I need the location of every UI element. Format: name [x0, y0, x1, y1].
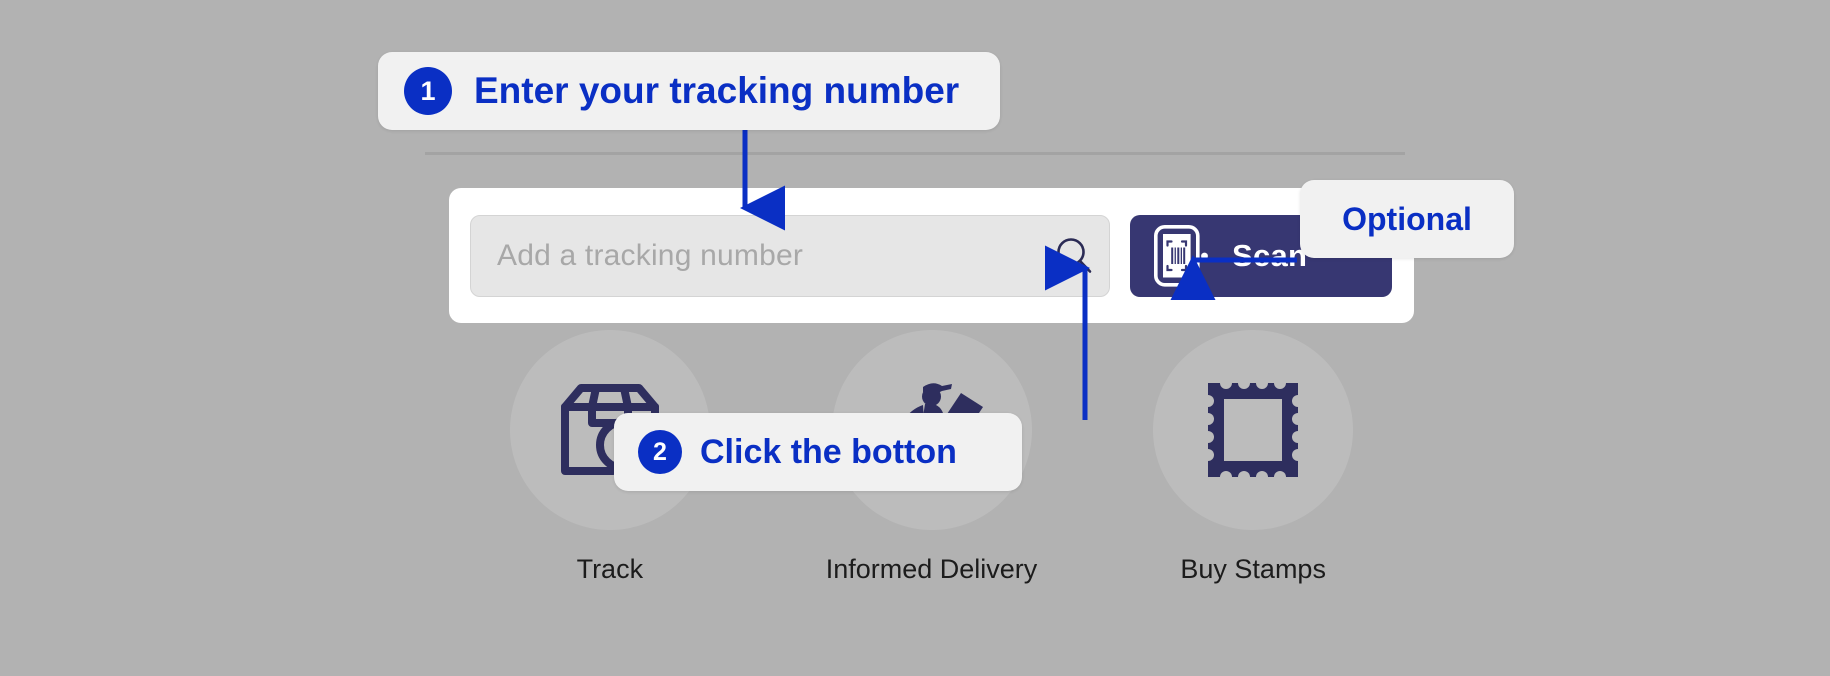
section-divider	[425, 152, 1405, 155]
search-placeholder: Add a tracking number	[497, 239, 1053, 273]
callout-step-1-text: Enter your tracking number	[474, 70, 959, 112]
callout-step-2[interactable]: 2 Click the botton	[614, 413, 1022, 491]
quick-action-label: Track	[577, 554, 644, 585]
callout-step-1[interactable]: 1 Enter your tracking number	[378, 52, 1000, 130]
quick-action-label: Buy Stamps	[1180, 554, 1326, 585]
callout-optional[interactable]: Optional	[1300, 180, 1514, 258]
quick-action-label: Informed Delivery	[826, 554, 1038, 585]
postage-stamp-icon	[1194, 371, 1312, 489]
search-input[interactable]: Add a tracking number	[470, 215, 1110, 297]
quick-action-buy-stamps[interactable]: Buy Stamps	[1092, 330, 1414, 620]
callout-optional-text: Optional	[1342, 201, 1472, 238]
barcode-scan-phone-icon	[1154, 225, 1210, 287]
screenshot-canvas: Add a tracking number	[0, 0, 1830, 676]
callout-step-1-badge: 1	[404, 67, 452, 115]
scan-button-label: Scan	[1232, 238, 1307, 274]
buy-stamps-icon-circle	[1153, 330, 1353, 530]
search-icon[interactable]	[1053, 235, 1095, 277]
tracking-search-card: Add a tracking number	[449, 188, 1414, 323]
callout-step-2-badge: 2	[638, 430, 682, 474]
callout-step-2-text: Click the botton	[700, 433, 957, 472]
